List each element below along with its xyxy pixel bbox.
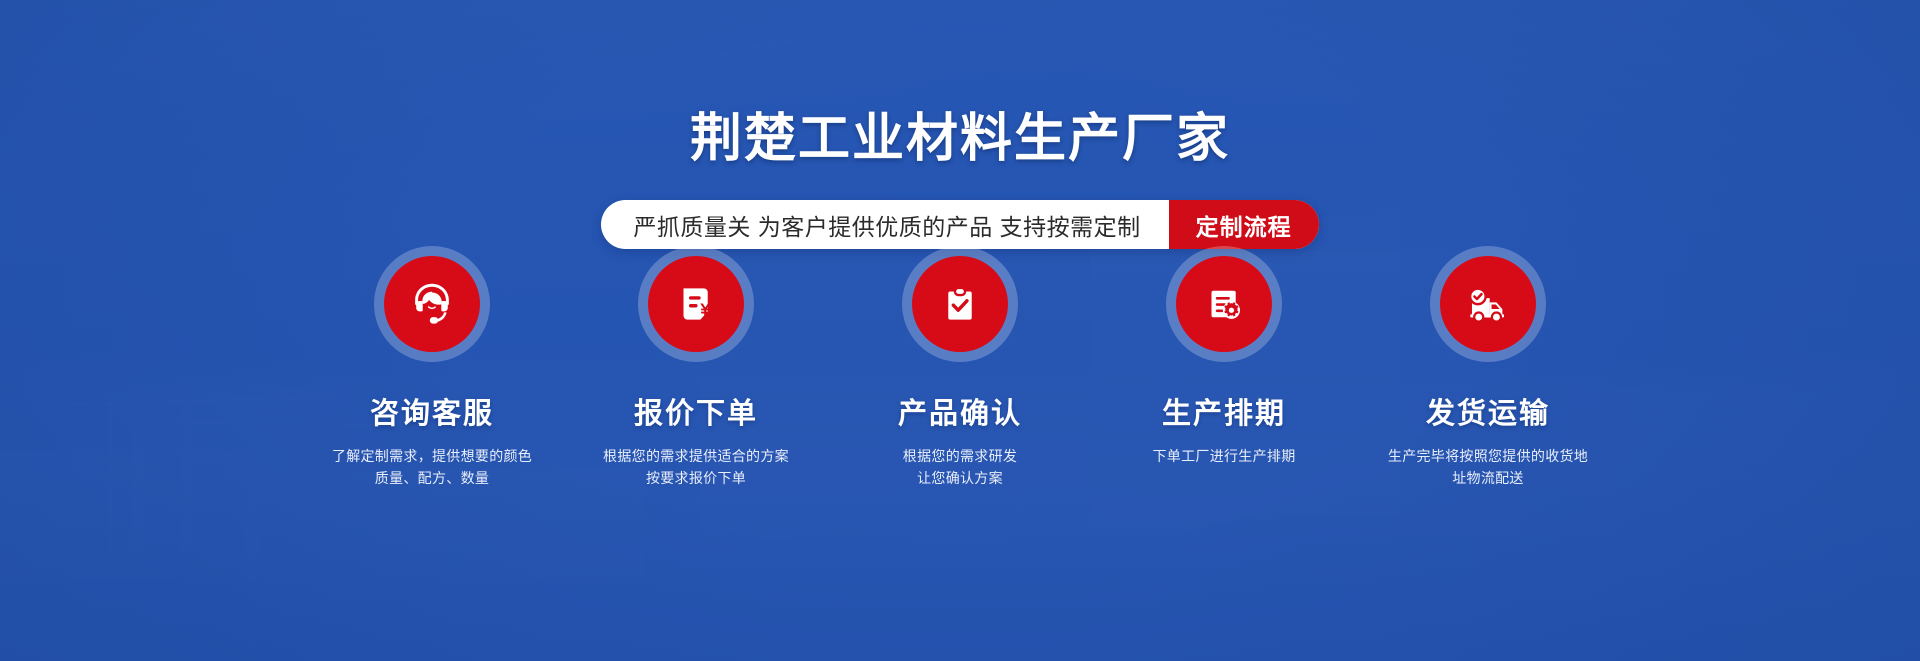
step-item-consult[interactable]: 咨询客服 了解定制需求，提供想要的颜色 质量、配方、数量 (300, 246, 564, 489)
process-steps: 咨询客服 了解定制需求，提供想要的颜色 质量、配方、数量 (0, 246, 1920, 489)
step-title: 报价下单 (634, 390, 758, 432)
tagline-text: 严抓质量关 为客户提供优质的产品 支持按需定制 (601, 200, 1168, 249)
step-item-confirm[interactable]: 产品确认 根据您的需求研发 让您确认方案 (828, 246, 1092, 489)
tagline-pill-wrapper: 严抓质量关 为客户提供优质的产品 支持按需定制 定制流程 (0, 200, 1920, 249)
step-badge-ring (902, 246, 1018, 362)
step-badge-circle (1440, 256, 1536, 352)
step-description-line: 根据您的需求提供适合的方案 (603, 446, 789, 468)
step-description-line: 按要求报价下单 (603, 468, 789, 490)
step-description-line: 质量、配方、数量 (332, 468, 532, 490)
clipboard-check-icon (935, 279, 985, 329)
banner-headline: 荆楚工业材料生产厂家 (0, 96, 1920, 171)
step-badge-ring (638, 246, 754, 362)
step-badge-circle (1176, 256, 1272, 352)
step-badge-circle (648, 256, 744, 352)
step-badge-ring (1166, 246, 1282, 362)
step-item-schedule[interactable]: 生产排期 下单工厂进行生产排期 (1092, 246, 1356, 468)
step-badge-circle (912, 256, 1008, 352)
step-description-line: 让您确认方案 (903, 468, 1017, 490)
step-description: 根据您的需求提供适合的方案 按要求报价下单 (603, 446, 789, 489)
step-description: 生产完毕将按照您提供的收货地 址物流配送 (1388, 446, 1588, 489)
step-title: 产品确认 (898, 390, 1022, 432)
step-title: 发货运输 (1426, 390, 1550, 432)
step-item-shipping[interactable]: 发货运输 生产完毕将按照您提供的收货地 址物流配送 (1356, 246, 1620, 489)
step-title: 生产排期 (1162, 390, 1286, 432)
step-description: 了解定制需求，提供想要的颜色 质量、配方、数量 (332, 446, 532, 489)
tagline-pill: 严抓质量关 为客户提供优质的产品 支持按需定制 定制流程 (601, 200, 1318, 249)
step-description-line: 生产完毕将按照您提供的收货地 (1388, 446, 1588, 468)
step-item-quote[interactable]: 报价下单 根据您的需求提供适合的方案 按要求报价下单 (564, 246, 828, 489)
step-title: 咨询客服 (370, 390, 494, 432)
step-badge-ring (374, 246, 490, 362)
quote-invoice-yuan-icon (671, 279, 721, 329)
banner-content: 荆楚工业材料生产厂家 严抓质量关 为客户提供优质的产品 支持按需定制 定制流程 (0, 0, 1920, 661)
step-description-line: 址物流配送 (1388, 468, 1588, 490)
delivery-truck-check-icon (1461, 277, 1515, 331)
step-description: 下单工厂进行生产排期 (1153, 446, 1296, 468)
custom-process-button[interactable]: 定制流程 (1169, 200, 1319, 249)
step-badge-ring (1430, 246, 1546, 362)
step-description: 根据您的需求研发 让您确认方案 (903, 446, 1017, 489)
step-badge-circle (384, 256, 480, 352)
headset-support-icon (405, 277, 459, 331)
document-gear-icon (1199, 279, 1249, 329)
promo-banner: 荆楚工业材料生产厂家 严抓质量关 为客户提供优质的产品 支持按需定制 定制流程 (0, 0, 1920, 661)
step-description-line: 下单工厂进行生产排期 (1153, 446, 1296, 468)
step-description-line: 了解定制需求，提供想要的颜色 (332, 446, 532, 468)
step-description-line: 根据您的需求研发 (903, 446, 1017, 468)
